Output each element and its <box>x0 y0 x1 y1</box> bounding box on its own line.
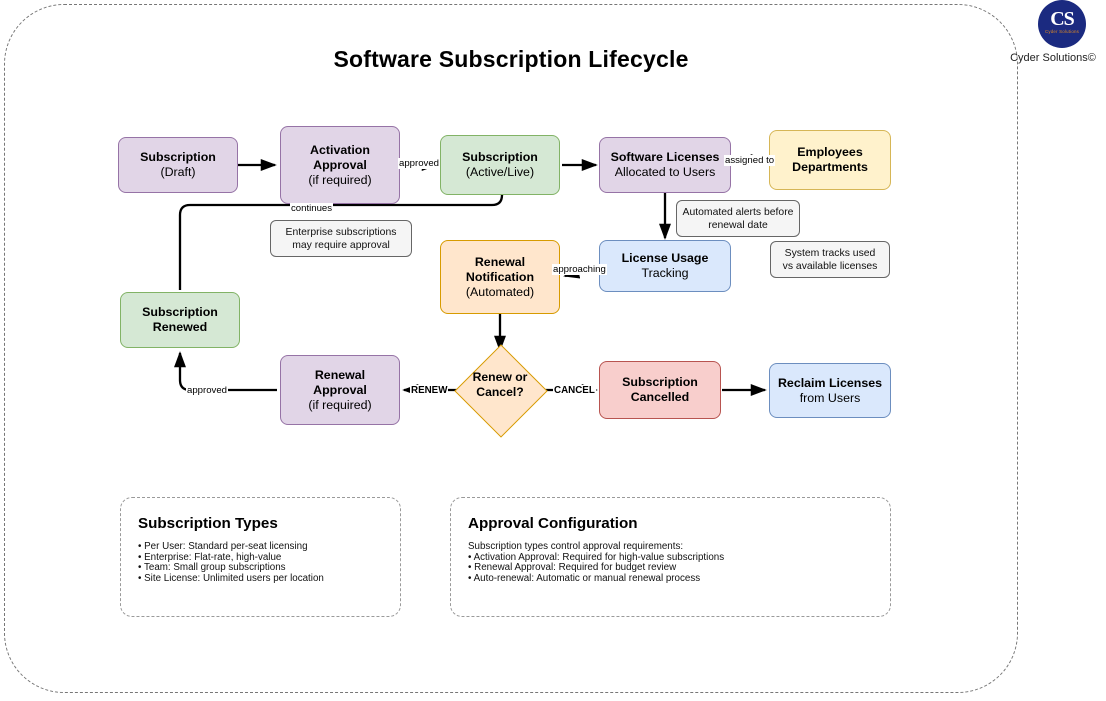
node-label-line1b: Cancelled <box>631 390 690 405</box>
node-label-line1: Renewal <box>315 368 365 383</box>
note-line2: vs available licenses <box>783 260 878 273</box>
note-enterprise-approval: Enterprise subscriptions may require app… <box>270 220 412 257</box>
node-label-line1: Renewal <box>475 255 525 270</box>
node-label-line1b: Renewed <box>153 320 207 335</box>
node-label-line1: Software Licenses <box>611 150 720 165</box>
node-subscription-draft[interactable]: Subscription (Draft) <box>118 137 238 193</box>
panel-line: • Site License: Unlimited users per loca… <box>138 574 388 585</box>
node-label-line1: Activation <box>310 143 370 158</box>
edge-label-approaching: approaching <box>552 264 607 275</box>
node-label-line1: Subscription <box>140 150 216 165</box>
panel-title: Subscription Types <box>138 515 278 532</box>
node-reclaim-licenses[interactable]: Reclaim Licenses from Users <box>769 363 891 418</box>
panel-line: • Auto-renewal: Automatic or manual rene… <box>468 574 878 585</box>
decision-label-line1: Renew or <box>450 370 550 385</box>
node-renewal-notification[interactable]: Renewal Notification (Automated) <box>440 240 560 314</box>
node-license-usage[interactable]: License Usage Tracking <box>599 240 731 292</box>
decision-label-line1b: Cancel? <box>450 385 550 400</box>
note-line1: Automated alerts before <box>683 206 794 219</box>
edge-label-approved-renewal: approved <box>186 385 228 396</box>
node-label-line1b: Approval <box>313 158 367 173</box>
edge-label-renew: RENEW <box>410 385 448 396</box>
node-label-line2: from Users <box>800 391 861 406</box>
note-line2: renewal date <box>708 219 768 232</box>
node-label-line1: Employees <box>797 145 862 160</box>
panel-line: • Per User: Standard per-seat licensing <box>138 542 388 553</box>
panel-approval-configuration: Approval Configuration Subscription type… <box>450 497 891 617</box>
note-line1: Enterprise subscriptions <box>286 226 397 239</box>
node-label-line1: Subscription <box>622 375 698 390</box>
note-line2: may require approval <box>292 239 390 252</box>
note-system-tracking: System tracks used vs available licenses <box>770 241 890 278</box>
panel-body: Subscription types control approval requ… <box>468 542 878 584</box>
node-label-line2: (Automated) <box>466 285 534 300</box>
edge-label-continues: continues <box>290 203 333 214</box>
node-label-line1b: Departments <box>792 160 868 175</box>
node-renew-or-cancel-decision[interactable]: Renew or Cancel? <box>458 348 542 432</box>
panel-subscription-types: Subscription Types • Per User: Standard … <box>120 497 401 617</box>
panel-title: Approval Configuration <box>468 515 638 532</box>
panel-body: • Per User: Standard per-seat licensing … <box>138 542 388 584</box>
node-subscription-cancelled[interactable]: Subscription Cancelled <box>599 361 721 419</box>
node-label-line2: (Active/Live) <box>466 165 534 180</box>
decision-label: Renew or Cancel? <box>450 370 550 400</box>
node-label-line1b: Notification <box>466 270 534 285</box>
node-employees-departments[interactable]: Employees Departments <box>769 130 891 190</box>
node-label-line1: Subscription <box>142 305 218 320</box>
node-label-line1: Subscription <box>462 150 538 165</box>
node-software-licenses[interactable]: Software Licenses Allocated to Users <box>599 137 731 193</box>
note-line1: System tracks used <box>785 247 876 260</box>
node-subscription-renewed[interactable]: Subscription Renewed <box>120 292 240 348</box>
node-label-line1: License Usage <box>622 251 709 266</box>
note-automated-alerts: Automated alerts before renewal date <box>676 200 800 237</box>
node-label-line1: Reclaim Licenses <box>778 376 882 391</box>
edge-label-approved-activation: approved <box>398 158 440 169</box>
node-label-line2: (if required) <box>308 173 371 188</box>
node-label-line2: (Draft) <box>160 165 195 180</box>
node-label-line2: Allocated to Users <box>615 165 716 180</box>
node-label-line2: Tracking <box>641 266 688 281</box>
node-subscription-active[interactable]: Subscription (Active/Live) <box>440 135 560 195</box>
edge-label-cancel: CANCEL <box>553 385 596 396</box>
edge-label-assigned-to: assigned to <box>724 155 775 166</box>
node-label-line1b: Approval <box>313 383 367 398</box>
panel-line: Subscription types control approval requ… <box>468 542 878 553</box>
node-renewal-approval[interactable]: Renewal Approval (if required) <box>280 355 400 425</box>
node-label-line2: (if required) <box>308 398 371 413</box>
node-activation-approval[interactable]: Activation Approval (if required) <box>280 126 400 204</box>
